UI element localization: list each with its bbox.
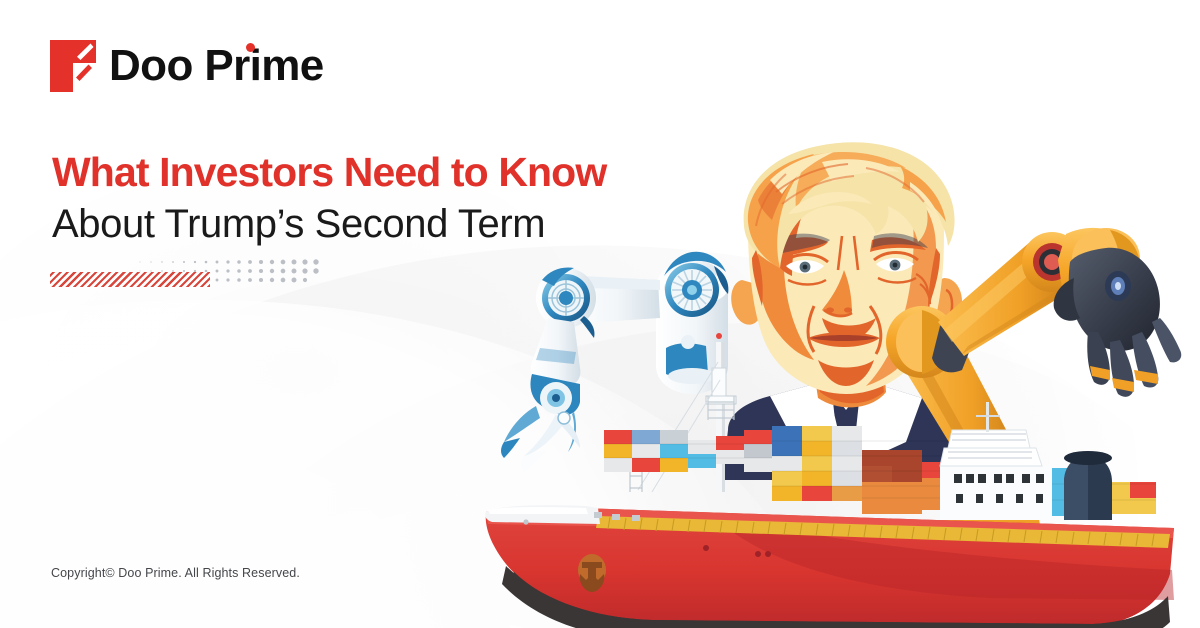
doo-prime-logo-mark-icon	[50, 40, 96, 92]
trump-robots-cargo-ship-illustration-icon	[470, 130, 1200, 628]
container-cargo-ship-icon	[485, 402, 1174, 628]
brand-logo[interactable]: Doo Prime	[50, 40, 324, 92]
brand-wordmark: Doo Prime	[109, 44, 324, 88]
copyright-text: Copyright© Doo Prime. All Rights Reserve…	[51, 566, 300, 580]
brand-wordmark-dot-icon	[246, 43, 255, 52]
banner-canvas: Doo Prime What Investors Need to Know Ab…	[0, 0, 1200, 628]
diagonal-stripe-bar-icon	[50, 272, 210, 287]
hero-illustration	[470, 130, 1200, 628]
brand-wordmark-text: Doo Prime	[109, 41, 324, 90]
headline-decoration	[50, 258, 340, 298]
